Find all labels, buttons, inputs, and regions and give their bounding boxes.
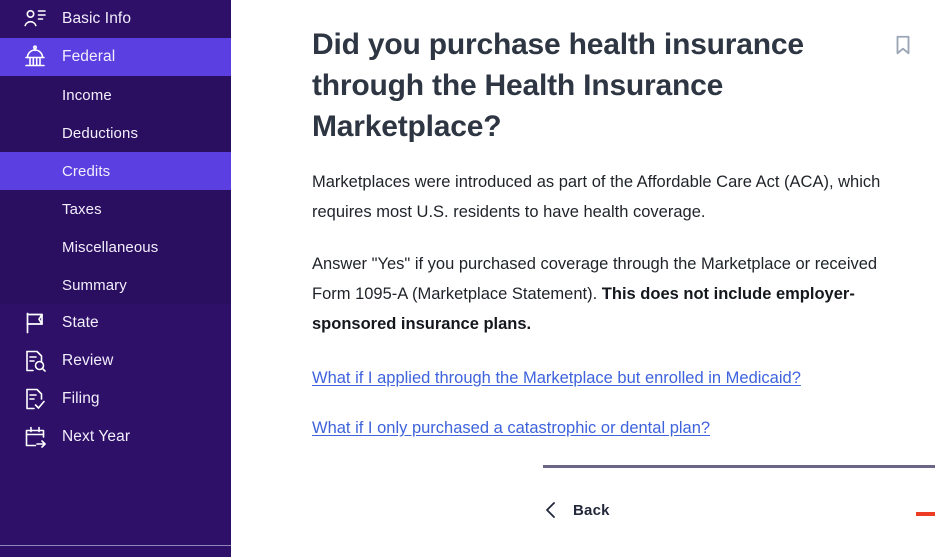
question-content: Did you purchase health insurance throug… <box>312 0 914 441</box>
sidebar-item-credits[interactable]: Credits <box>0 152 231 190</box>
sidebar-item-next-year[interactable]: Next Year <box>0 418 231 456</box>
capitol-icon <box>22 44 48 70</box>
chevron-left-icon <box>543 500 559 520</box>
flag-icon <box>22 310 48 336</box>
page-title: Did you purchase health insurance throug… <box>312 24 872 147</box>
main-content: Did you purchase health insurance throug… <box>231 0 935 557</box>
help-links: What if I applied through the Marketplac… <box>312 339 914 441</box>
calendar-arrow-icon <box>22 424 48 450</box>
sidebar-item-state[interactable]: State <box>0 304 231 342</box>
back-button[interactable]: Back <box>543 500 610 520</box>
sidebar-nav-list: Basic InfoFederalIncomeDeductionsCredits… <box>0 0 231 557</box>
sidebar-item-federal[interactable]: Federal <box>0 38 231 76</box>
sidebar-item-taxes[interactable]: Taxes <box>0 190 231 228</box>
sidebar-item-label: Federal <box>62 48 115 66</box>
sidebar-item-label: Credits <box>62 163 110 180</box>
footer-divider <box>543 465 935 468</box>
paragraph-aca: Marketplaces were introduced as part of … <box>312 147 914 227</box>
sidebar: Basic InfoFederalIncomeDeductionsCredits… <box>0 0 231 557</box>
title-row: Did you purchase health insurance throug… <box>312 0 914 147</box>
paragraph-answer-yes: Answer "Yes" if you purchased coverage t… <box>312 227 914 339</box>
document-check-icon <box>22 386 48 412</box>
sidebar-item-label: Basic Info <box>62 10 131 28</box>
contact-card-icon <box>22 6 48 32</box>
help-link-1[interactable]: What if I applied through the Marketplac… <box>312 365 801 391</box>
sidebar-item-filing[interactable]: Filing <box>0 380 231 418</box>
sidebar-item-review[interactable]: Review <box>0 342 231 380</box>
bookmark-icon[interactable] <box>892 34 914 56</box>
sidebar-item-label: Summary <box>62 277 127 294</box>
sidebar-item-summary[interactable]: Summary <box>0 266 231 304</box>
sidebar-item-label: Filing <box>62 390 100 408</box>
sidebar-item-basic-info[interactable]: Basic Info <box>0 0 231 38</box>
sidebar-item-income[interactable]: Income <box>0 76 231 114</box>
sidebar-item-label: State <box>62 314 99 332</box>
back-label: Back <box>573 502 610 519</box>
sidebar-item-label: Next Year <box>62 428 130 446</box>
sidebar-item-label: Miscellaneous <box>62 239 158 256</box>
app-root: Basic InfoFederalIncomeDeductionsCredits… <box>0 0 935 557</box>
sidebar-item-label: Deductions <box>62 125 138 142</box>
document-search-icon <box>22 348 48 374</box>
footer-actions: Back Yes No <box>543 484 935 554</box>
sidebar-item-deductions[interactable]: Deductions <box>0 114 231 152</box>
sidebar-item-label: Taxes <box>62 201 102 218</box>
sidebar-item-miscellaneous[interactable]: Miscellaneous <box>0 228 231 266</box>
sidebar-item-label: Review <box>62 352 113 370</box>
help-link-2[interactable]: What if I only purchased a catastrophic … <box>312 415 710 441</box>
sidebar-item-label: Income <box>62 87 112 104</box>
sidebar-footer-strip <box>0 546 231 557</box>
